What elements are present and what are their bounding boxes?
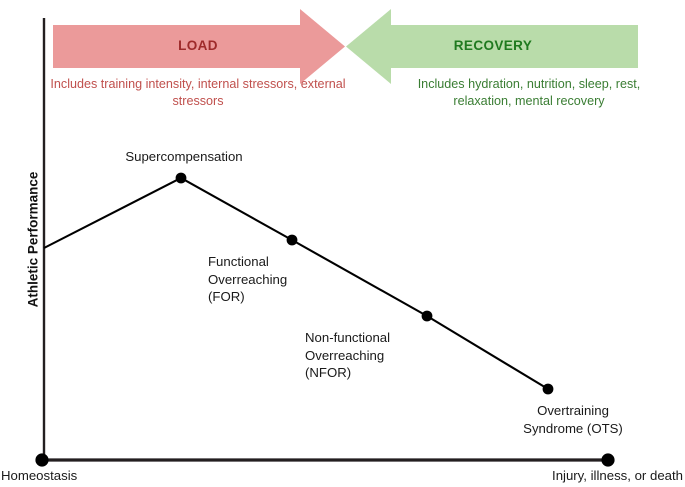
annotation-nfor-line-1: Non-functional <box>305 329 465 347</box>
x-axis-end-marker <box>601 453 614 466</box>
x-axis-end-label: Injury, illness, or death <box>552 468 683 483</box>
annotation-ots-line-2: Syndrome (OTS) <box>498 420 648 438</box>
y-axis-title: Athletic Performance <box>26 145 41 335</box>
training-load-recovery-diagram: LOAD RECOVERY Includes training intensit… <box>0 0 685 487</box>
performance-chart: Athletic Performance Supercompensation F… <box>0 0 685 487</box>
x-axis-origin-marker <box>35 453 48 466</box>
annotation-for-line-2: Overreaching <box>208 271 348 289</box>
x-axis-start-label: Homeostasis <box>1 468 77 483</box>
point-overtraining-syndrome <box>543 384 554 395</box>
annotation-supercompensation: Supercompensation <box>104 148 264 166</box>
annotation-functional-overreaching: Functional Overreaching (FOR) <box>208 253 348 306</box>
annotation-overtraining-syndrome: Overtraining Syndrome (OTS) <box>498 402 648 437</box>
point-functional-overreaching <box>287 235 298 246</box>
annotation-for-line-3: (FOR) <box>208 288 348 306</box>
annotation-ots-line-1: Overtraining <box>498 402 648 420</box>
point-non-functional-overreaching <box>422 311 433 322</box>
annotation-non-functional-overreaching: Non-functional Overreaching (NFOR) <box>305 329 465 382</box>
point-supercompensation <box>176 173 187 184</box>
annotation-nfor-line-3: (NFOR) <box>305 364 465 382</box>
annotation-for-line-1: Functional <box>208 253 348 271</box>
annotation-nfor-line-2: Overreaching <box>305 347 465 365</box>
